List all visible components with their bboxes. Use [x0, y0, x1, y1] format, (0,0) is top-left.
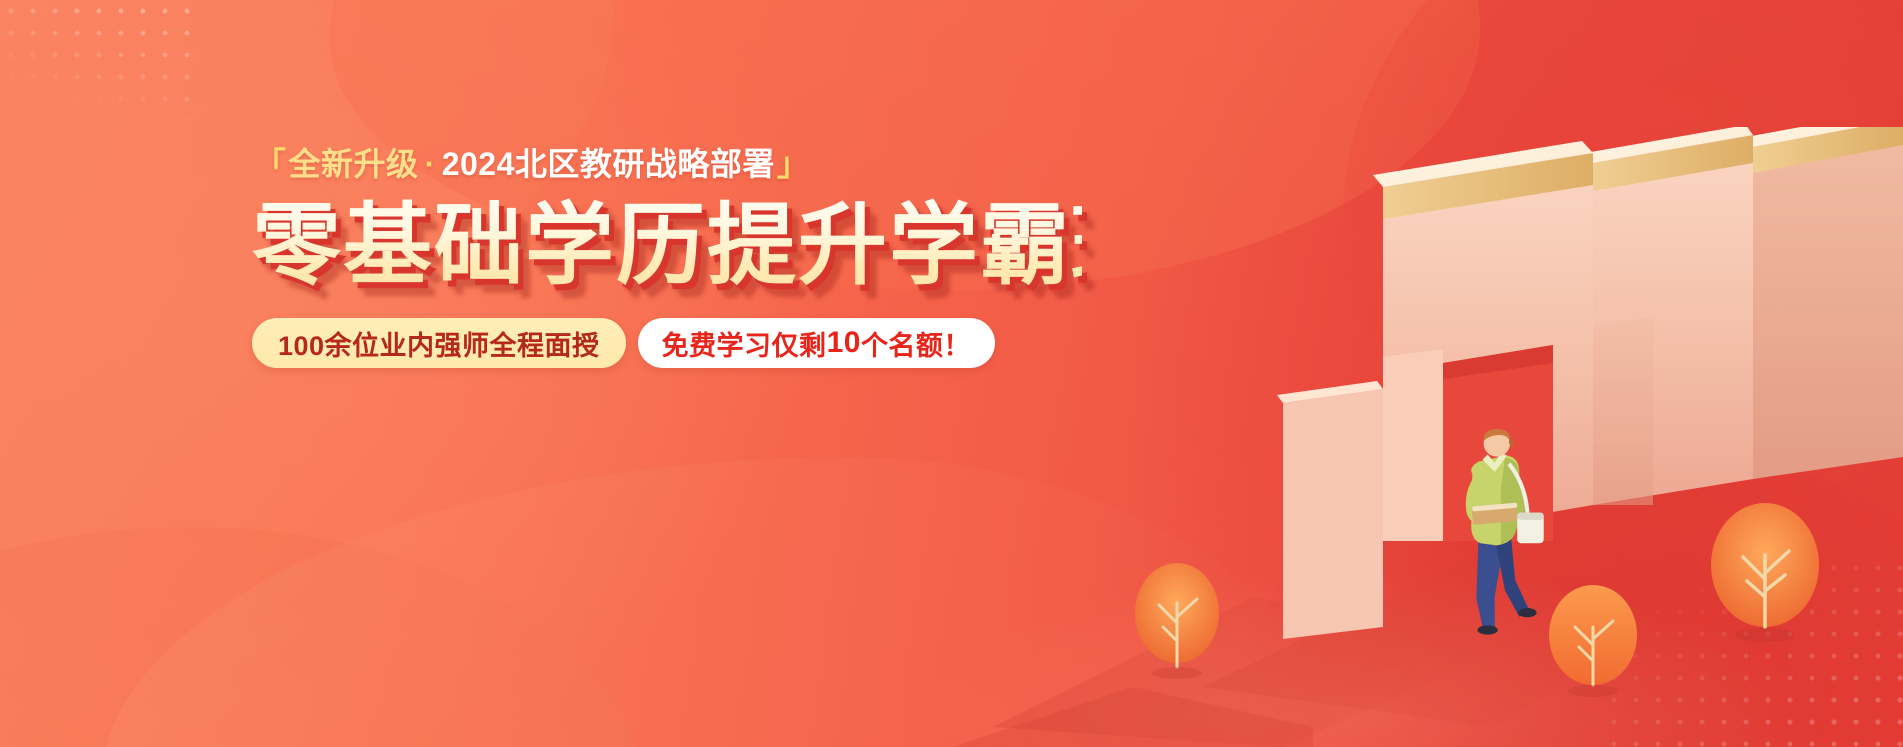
bg-blob-bottom-left [0, 527, 640, 747]
pill-seats-left: 免费学习仅剩10个名额！ [638, 318, 995, 368]
banner-pill-row: 100余位业内强师全程面授 免费学习仅剩10个名额！ [252, 318, 1082, 368]
bracket-close-icon: 」 [777, 146, 810, 182]
tree-right [1711, 503, 1819, 642]
subtitle-white-text: 2024北区教研战略部署 [442, 146, 775, 182]
subtitle-separator: · [419, 146, 442, 182]
pill-teachers: 100余位业内强师全程面授 [252, 318, 626, 368]
arch-3 [1585, 127, 1753, 505]
banner-content: 「全新升级·2024北区教研战略部署」 零基础学历提升学霸班 100余位业内强师… [252, 148, 1082, 368]
banner-subtitle: 「全新升级·2024北区教研战略部署」 [252, 148, 1082, 180]
bracket-open-icon: 「 [254, 146, 287, 182]
banner-headline: 零基础学历提升学霸班 [252, 198, 1082, 292]
promo-banner: 「全新升级·2024北区教研战略部署」 零基础学历提升学霸班 100余位业内强师… [0, 0, 1903, 747]
arch-4 [1746, 127, 1903, 479]
pill-seats-prefix: 免费学习仅剩 [662, 324, 827, 363]
subtitle-gold-text: 全新升级 [289, 146, 419, 182]
dot-grid-top-left-icon [0, 0, 190, 120]
arch-1 [1277, 381, 1383, 639]
pill-seats-suffix: 个名额！ [861, 324, 971, 363]
pill-seats-number: 10 [827, 326, 861, 360]
